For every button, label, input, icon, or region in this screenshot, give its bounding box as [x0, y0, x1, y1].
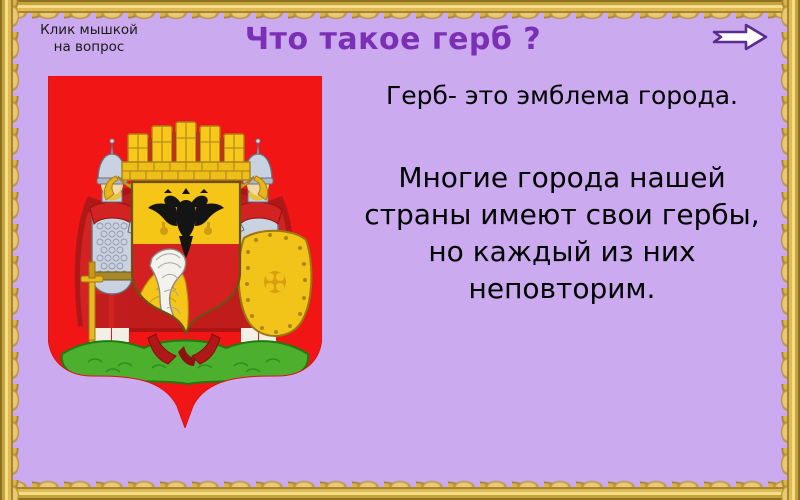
coat-of-arms-image[interactable]	[48, 76, 322, 428]
definition-paragraph: Герб- это эмблема города.	[344, 80, 780, 113]
explanation-paragraph: Многие города нашей страны имеют свои ге…	[344, 159, 780, 308]
arrow-right-icon[interactable]	[712, 22, 768, 52]
coa-field	[48, 76, 322, 428]
content-text-block: Герб- это эмблема города. Многие города …	[344, 80, 780, 307]
click-hint: Клик мышкой на вопрос	[14, 22, 164, 57]
slide-title[interactable]: Что такое герб ?	[178, 22, 608, 57]
border-right	[778, 0, 800, 500]
border-left	[0, 0, 22, 500]
border-top	[0, 0, 800, 22]
coa-supporter-shield	[239, 231, 312, 336]
slide-canvas: Клик мышкой на вопрос Что такое герб ? Г…	[0, 0, 800, 500]
click-hint-line-2: на вопрос	[14, 39, 164, 56]
border-bottom	[0, 478, 800, 500]
click-hint-line-1: Клик мышкой	[14, 22, 164, 39]
